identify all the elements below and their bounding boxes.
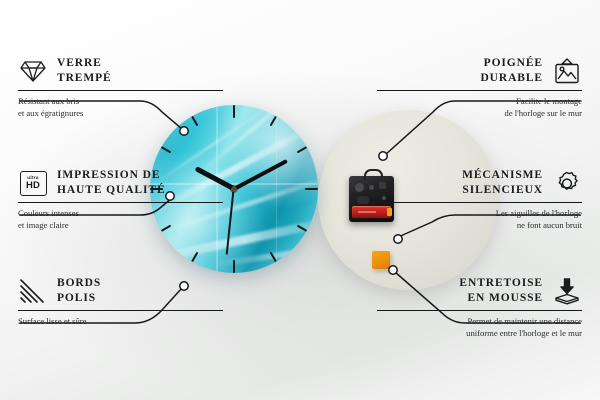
feature-subtitle: Surface lisse et sûre (18, 315, 223, 327)
feature-entretoise-en-mousse: ENTRETOISE EN MOUSSE Permet de maintenir… (377, 276, 582, 339)
infographic-canvas: VERRE TREMPÉ Résistant aux bris et aux é… (0, 0, 600, 400)
feature-subtitle: Résistant aux bris et aux égratignures (18, 95, 223, 119)
feature-subtitle: Facilite le montage de l'horloge sur le … (377, 95, 582, 119)
center-pin (231, 186, 237, 192)
feature-mecanisme-silencieux: MÉCANISME SILENCIEUX Les aiguilles de l'… (377, 168, 582, 231)
foam-spacer (372, 251, 390, 269)
feature-subtitle: Couleurs intenses et image claire (18, 207, 223, 231)
foam-spacer-icon (552, 276, 582, 306)
diamond-icon (18, 56, 48, 86)
feature-poignee-durable: POIGNÉE DURABLE Facilite le montage de l… (377, 56, 582, 119)
divider (18, 90, 223, 91)
divider (377, 202, 582, 203)
feature-title: BORDS POLIS (57, 276, 101, 307)
feature-subtitle: Les aiguilles de l'horloge ne font aucun… (377, 207, 582, 231)
feature-title: IMPRESSION DE HAUTE QUALITÉ (57, 168, 166, 199)
feature-bords-polis: BORDS POLIS Surface lisse et sûre (18, 276, 223, 327)
picture-hanger-icon (552, 56, 582, 86)
divider (377, 310, 582, 311)
feature-title: VERRE TREMPÉ (57, 56, 112, 87)
feature-title: ENTRETOISE EN MOUSSE (459, 276, 543, 307)
gear-icon (552, 168, 582, 198)
feature-subtitle: Permet de maintenir une distance uniform… (377, 315, 582, 339)
feature-impression-haute-qualite: ultra HD IMPRESSION DE HAUTE QUALITÉ Cou… (18, 168, 223, 231)
feature-title: POIGNÉE DURABLE (480, 56, 543, 87)
divider (18, 310, 223, 311)
ultra-hd-icon: ultra HD (18, 168, 48, 198)
divider (377, 90, 582, 91)
polished-edges-icon (18, 276, 48, 306)
divider (18, 202, 223, 203)
feature-title: MÉCANISME SILENCIEUX (462, 168, 543, 199)
feature-verre-trempe: VERRE TREMPÉ Résistant aux bris et aux é… (18, 56, 223, 119)
